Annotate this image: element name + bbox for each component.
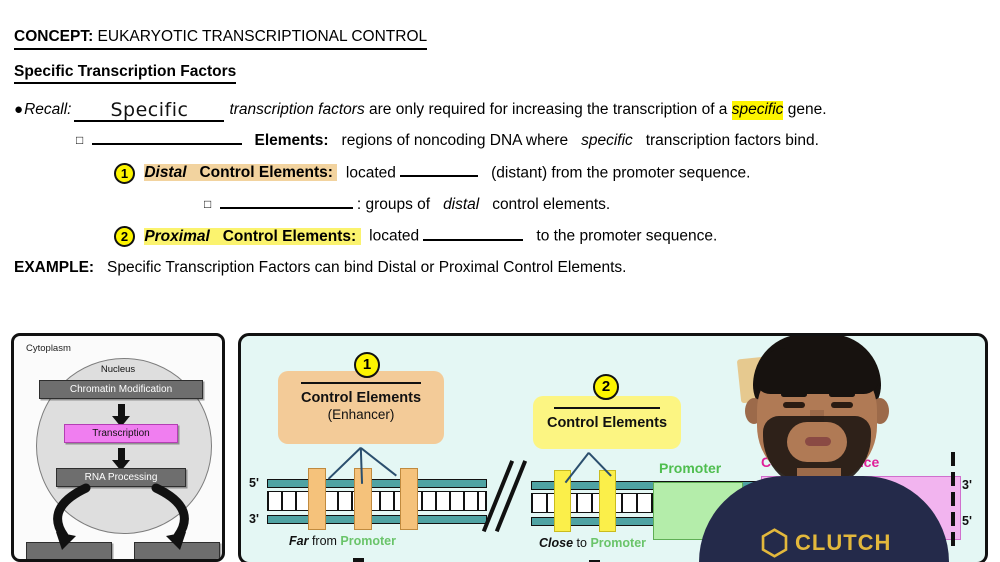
elements-text-end: transcription factors bind. [646,132,819,149]
recall-answer-blank: Specific [74,97,224,122]
presenter-brow-right [829,392,855,397]
caption-1-rest: from [312,534,337,548]
diagram-badge-1: 1 [354,352,380,378]
leg-right-2 [565,452,590,483]
hexagon-icon [761,528,788,558]
control-element-block-2b [599,470,616,532]
leg-mid-1 [360,448,363,484]
concept-label: CONCEPT: [14,28,93,45]
recall-text-b: are only required for increasing the tra… [369,101,727,120]
groups-text-b: control elements. [492,196,610,213]
diagram-badge-2: 2 [593,374,619,400]
subheading: Specific Transcription Factors [14,63,986,85]
diagram-region: Cytoplasm Nucleus Chromatin Modification… [0,330,1000,562]
dna-strand-bottom-left [267,515,487,524]
presenter-mouth [805,437,831,446]
caption-close-to-promoter: Close to Promoter [539,536,646,550]
presenter-brow-left [781,392,807,397]
proximal-box-title: Control Elements [533,415,681,431]
control-element-block-1a [308,468,326,530]
groups-blank [220,196,353,209]
square-bullet-icon: □ [76,133,83,147]
recall-highlighted-word: specific [732,101,784,120]
end-dash-3 [951,492,955,506]
proximal-box-blank [554,407,661,409]
elements-italic-word: specific [581,132,633,149]
distal-italic-word: Distal [144,164,186,181]
five-prime-left: 5' [249,476,259,490]
elements-line: □ Elements: regions of noncoding DNA whe… [76,132,986,151]
dna-strand-top-left [267,479,487,488]
slide-page: CONCEPT: EUKARYOTIC TRANSCRIPTIONAL CONT… [0,0,1000,562]
control-element-block-1c [400,468,418,530]
elements-text: regions of noncoding DNA where [342,132,569,149]
three-prime-right: 3' [962,478,972,492]
bullet-dot: ● [14,102,23,117]
caption-far-from-promoter: Far from Promoter [289,534,396,548]
presenter-eye-right [831,402,853,408]
presenter-video-overlay: CLUTCH [705,333,935,562]
gene-expression-overview-panel: Cytoplasm Nucleus Chromatin Modification… [11,333,225,562]
proximal-text-a: located [369,228,419,245]
export-arrows [14,336,225,562]
dna-rungs-left [267,491,487,511]
control-elements-diagram-panel: 1 Control Elements (Enhancer) 5' 3' [238,333,988,562]
handwritten-answer: Specific [110,99,188,121]
proximal-text-b: to the promoter sequence. [536,228,717,245]
groups-text-a: : groups of [357,196,430,213]
presenter-eye-left [783,402,805,408]
proximal-line: 2 Proximal Control Elements: located to … [114,226,986,247]
distal-bold-rest: Control Elements: [199,164,332,181]
proximal-italic-word: Proximal [144,228,209,245]
concept-heading: CONCEPT: EUKARYOTIC TRANSCRIPTIONAL CONT… [14,28,986,50]
end-dash-1 [951,452,955,466]
distal-box-title: Control Elements [278,390,444,406]
shirt-logo: CLUTCH [761,526,911,560]
example-text: Specific Transcription Factors can bind … [107,259,626,276]
distal-control-elements-box: Control Elements (Enhancer) [278,371,444,444]
notes-region: CONCEPT: EUKARYOTIC TRANSCRIPTIONAL CONT… [0,0,1000,330]
recall-line: ● Recall: Specific transcription factors… [14,95,986,120]
groups-line: □ : groups of distal control elements. [204,196,986,215]
shirt-logo-text: CLUTCH [795,530,891,556]
elements-blank [92,132,242,145]
caption-2-green: Promoter [590,536,646,550]
elements-bold-word: Elements: [255,132,329,149]
distal-blank [400,164,478,177]
distal-text-a: located [346,164,396,181]
caption-2-rest: to [577,536,587,550]
distal-line: 1 Distal Control Elements: located (dist… [114,163,986,184]
recall-label: Recall: [24,101,71,120]
proximal-blank [423,228,523,241]
end-dash-2 [951,472,955,486]
three-prime-left: 3' [249,512,259,526]
caption-2-italic: Close [539,536,573,550]
recall-text-a: transcription factors [229,101,364,120]
badge-number-1: 1 [114,163,135,184]
example-line: EXAMPLE: Specific Transcription Factors … [14,259,986,278]
presenter-fringe [755,348,879,394]
subheading-text: Specific Transcription Factors [14,63,236,85]
distal-text-b: (distant) from the promoter sequence. [491,164,750,181]
break-slash-b [495,460,527,532]
distal-box-blank [301,382,421,384]
control-element-block-1b [354,468,372,530]
concept-title: EUKARYOTIC TRANSCRIPTIONAL CONTROL [98,28,428,45]
square-bullet-icon-2: □ [204,197,211,211]
end-dash-5 [951,532,955,546]
recall-text-c: gene. [788,101,827,120]
end-dash-4 [951,512,955,526]
distal-box-subtitle: (Enhancer) [278,407,444,422]
caption-1-italic: Far [289,534,308,548]
proximal-bold-rest: Control Elements: [223,228,356,245]
badge-number-2: 2 [114,226,135,247]
groups-italic-word: distal [443,196,479,213]
five-prime-right: 5' [962,514,972,528]
caption-1-green: Promoter [340,534,396,548]
example-label: EXAMPLE: [14,259,94,276]
marker-square-1 [353,558,364,562]
proximal-control-elements-box: Control Elements [533,396,681,449]
